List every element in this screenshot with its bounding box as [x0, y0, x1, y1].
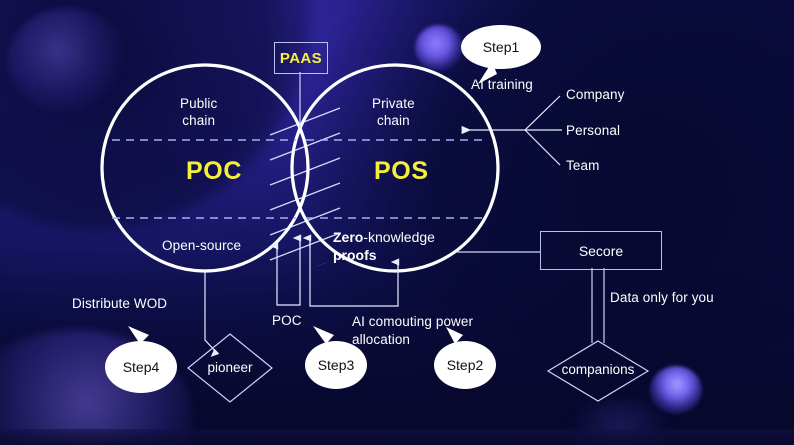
secore-to-companions-lines — [592, 268, 604, 343]
step2-bubble[interactable]: Step2 — [434, 341, 496, 389]
step3-label: Step3 — [318, 357, 355, 373]
secore-box[interactable]: Secore — [540, 231, 662, 270]
pioneer-label: pioneer — [190, 360, 270, 375]
step1-label: Step1 — [483, 39, 520, 55]
zero-knowledge-proofs-label: Zero-knowledge proofs — [333, 228, 473, 264]
paas-box[interactable]: PAAS — [274, 42, 328, 74]
companions-label: companions — [548, 362, 648, 377]
public-chain-label: Public chain — [180, 95, 217, 130]
poc-connector-label: POC — [272, 312, 302, 329]
ai-computing-line2: allocation — [352, 331, 410, 348]
poc-label: POC — [186, 157, 242, 186]
poc-bracket-connector — [277, 238, 300, 305]
step1-bubble[interactable]: Step1 — [461, 25, 541, 69]
ai-training-label: AI training — [471, 76, 533, 93]
step4-bubble[interactable]: Step4 — [105, 341, 177, 393]
step3-bubble[interactable]: Step3 — [305, 341, 367, 389]
data-only-for-you-label: Data only for you — [610, 289, 714, 306]
zk-line2: proofs — [333, 247, 377, 263]
personal-label: Personal — [566, 122, 620, 139]
pos-label: POS — [374, 157, 429, 186]
distribute-wod-arrow — [205, 272, 216, 352]
ai-training-fan — [470, 96, 562, 165]
team-label: Team — [566, 157, 599, 174]
distribute-wod-label: Distribute WOD — [72, 295, 167, 312]
bottom-bar — [0, 429, 794, 445]
secore-label: Secore — [579, 243, 623, 259]
ai-computing-line1: AI comouting power — [352, 313, 473, 330]
zk-regular-part: -knowledge — [363, 229, 435, 245]
step4-label: Step4 — [123, 359, 160, 375]
company-label: Company — [566, 86, 624, 103]
private-chain-label: Private chain — [372, 95, 415, 130]
zk-bold-part: Zero — [333, 229, 363, 245]
open-source-label: Open-source — [162, 237, 241, 254]
step2-label: Step2 — [447, 357, 484, 373]
paas-label: PAAS — [280, 50, 322, 67]
slide-canvas: PAAS Public chain Private chain POC POS … — [0, 0, 794, 445]
